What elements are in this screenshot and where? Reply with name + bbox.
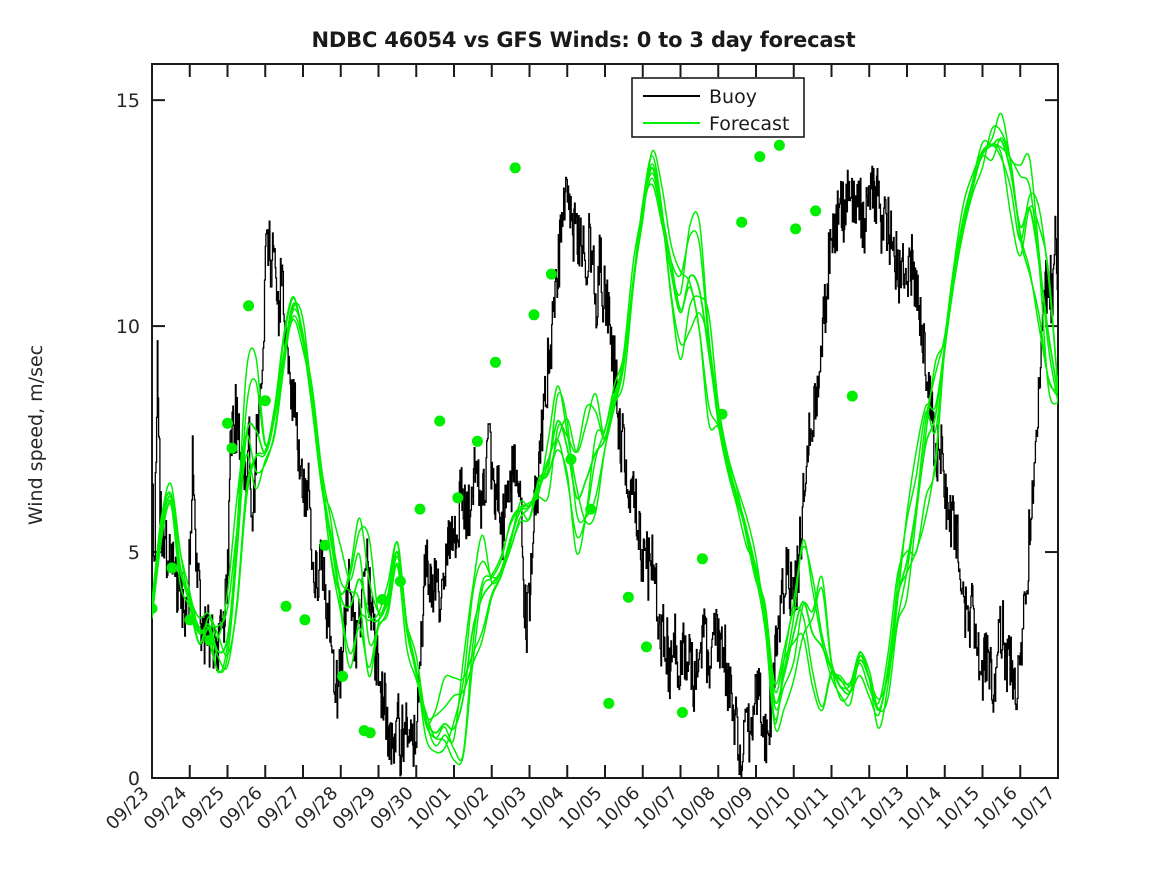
forecast-verification-marker bbox=[697, 553, 708, 564]
forecast-verification-marker bbox=[147, 603, 158, 614]
forecast-verification-marker bbox=[847, 391, 858, 402]
series-buoy bbox=[152, 166, 1060, 776]
forecast-verification-marker bbox=[472, 436, 483, 447]
x-axis-tick-labels: 09/2309/2409/2509/2609/2709/2809/2909/30… bbox=[102, 783, 1060, 835]
forecast-verification-marker bbox=[677, 707, 688, 718]
forecast-verification-marker bbox=[810, 205, 821, 216]
forecast-verification-marker bbox=[243, 300, 254, 311]
forecast-verification-marker bbox=[754, 151, 765, 162]
plot-canvas: 051015 Buoy Forecast 09/2309/2409/2509/2… bbox=[0, 0, 1167, 875]
forecast-verification-marker bbox=[319, 540, 330, 551]
forecast-verification-marker bbox=[377, 594, 388, 605]
forecast-verification-marker bbox=[623, 592, 634, 603]
forecast-verification-marker bbox=[337, 671, 348, 682]
chart-figure: NDBC 46054 vs GFS Winds: 0 to 3 day fore… bbox=[0, 0, 1167, 875]
forecast-verification-marker bbox=[736, 217, 747, 228]
x-tick-label: 10/17 bbox=[1008, 783, 1060, 835]
forecast-verification-marker bbox=[566, 454, 577, 465]
forecast-verification-marker bbox=[490, 357, 501, 368]
forecast-verification-marker bbox=[510, 162, 521, 173]
y-tick-label: 5 bbox=[128, 542, 140, 564]
forecast-verification-marker bbox=[790, 223, 801, 234]
legend: Buoy Forecast bbox=[632, 78, 804, 137]
forecast-verification-marker bbox=[774, 140, 785, 151]
forecast-verification-marker bbox=[529, 309, 540, 320]
series-forecast bbox=[152, 113, 1058, 764]
forecast-verification-marker bbox=[452, 492, 463, 503]
forecast-verification-marker bbox=[299, 614, 310, 625]
forecast-verification-marker bbox=[415, 504, 426, 515]
forecast-verification-marker bbox=[227, 443, 238, 454]
forecast-verification-marker bbox=[717, 409, 728, 420]
y-axis-ticks: 051015 bbox=[116, 90, 1058, 790]
forecast-verification-marker bbox=[603, 698, 614, 709]
y-tick-label: 10 bbox=[116, 316, 140, 338]
forecast-verification-marker bbox=[204, 635, 215, 646]
forecast-verification-marker bbox=[434, 416, 445, 427]
forecast-verification-marker bbox=[365, 727, 376, 738]
legend-label-buoy: Buoy bbox=[709, 86, 757, 108]
y-tick-label: 15 bbox=[116, 90, 140, 112]
forecast-verification-marker bbox=[395, 576, 406, 587]
forecast-verification-marker bbox=[641, 641, 652, 652]
buoy-observation-line bbox=[152, 166, 1060, 776]
forecast-verification-marker bbox=[167, 562, 178, 573]
forecast-verification-marker bbox=[546, 269, 557, 280]
forecast-verification-marker bbox=[184, 614, 195, 625]
forecast-verification-marker bbox=[222, 418, 233, 429]
legend-label-forecast: Forecast bbox=[709, 113, 789, 135]
forecast-verification-marker bbox=[585, 504, 596, 515]
forecast-verification-marker bbox=[260, 395, 271, 406]
forecast-verification-markers bbox=[147, 140, 858, 739]
forecast-verification-marker bbox=[281, 601, 292, 612]
